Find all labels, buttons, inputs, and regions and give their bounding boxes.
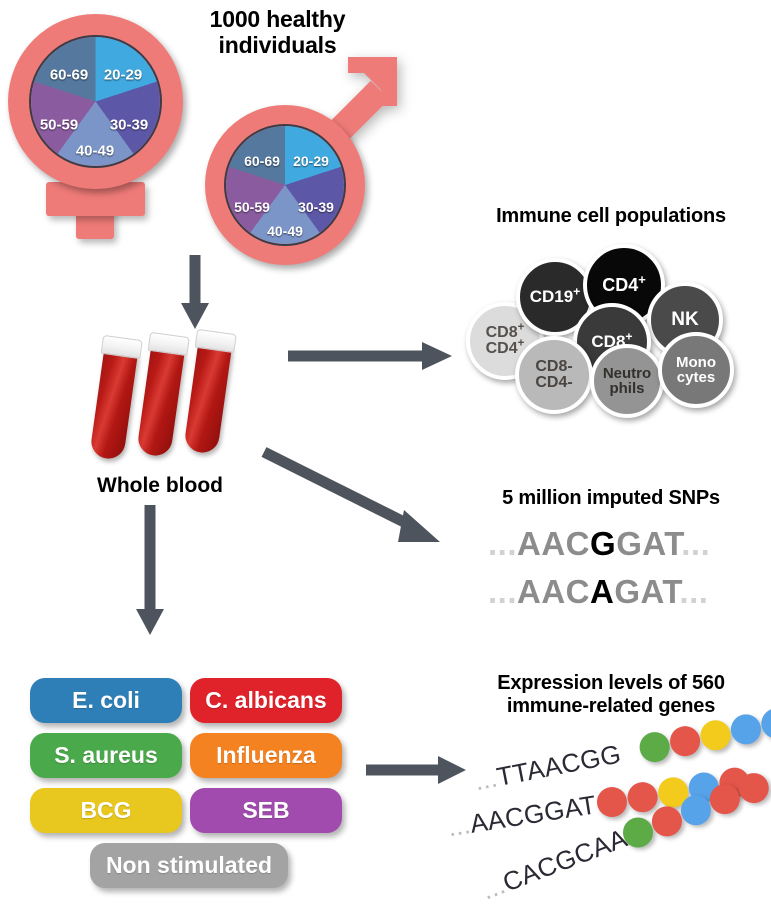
snp-title: 5 million imputed SNPs (455, 487, 767, 510)
snp-sequences: ...AACGGAT... ...AACAGAT... (470, 525, 760, 620)
expression-title: Expression levels of 560 immune-related … (455, 672, 767, 718)
expression-bead (728, 712, 763, 747)
immune-cell-neutrophils: Neutro phils (590, 344, 664, 418)
female-symbol: 20-29 30-39 40-49 50-59 60-69 (8, 14, 183, 239)
expression-bead (667, 724, 702, 759)
age-label-male-20-29: 20-29 (293, 153, 329, 169)
seq-suffix-dots: ... (679, 573, 708, 610)
cell-line-2: cytes (676, 370, 716, 385)
seq-post: GAT (616, 525, 681, 562)
whole-blood-label: Whole blood (60, 474, 260, 498)
age-label-40-49: 40-49 (76, 143, 114, 160)
stimulus-e-coli[interactable]: E. coli (30, 678, 182, 723)
immune-cell-cluster: CD8+ CD4+ CD19+ CD4+ NK CD8+ CD8- CD4- (455, 240, 767, 420)
age-label-20-29: 20-29 (104, 67, 142, 84)
seq-post: GAT (614, 573, 679, 610)
seq-pre: AAC (517, 525, 590, 562)
stimulation-panel: E. coli C. albicans S. aureus Influenza … (30, 678, 350, 898)
cell-line-2: CD4- (535, 375, 572, 391)
expression-bead (637, 729, 672, 764)
male-symbol: 20-29 30-39 40-49 50-59 60-69 (205, 85, 405, 255)
age-label-30-39: 30-39 (110, 117, 148, 134)
expression-strands: ...TTAACGG ...AACGGAT ...CACGCAA (455, 725, 771, 915)
seq-highlight-allele: G (590, 525, 616, 562)
whole-blood-tubes (100, 338, 260, 473)
stimulus-s-aureus[interactable]: S. aureus (30, 733, 182, 778)
tube-body (183, 343, 232, 455)
immune-cell-cd8n-cd4n: CD8- CD4- (515, 336, 593, 414)
cell-line-1: CD4+ (602, 276, 646, 294)
female-age-pie: 20-29 30-39 40-49 50-59 60-69 (29, 35, 162, 168)
age-label-male-30-39: 30-39 (298, 199, 334, 215)
strand-sequence: ...AACGGAT (446, 789, 599, 843)
figure-canvas: 1000 healthy individuals 20-29 30-39 40-… (0, 0, 771, 922)
snp-sequence-row: ...AACGGAT... (488, 525, 710, 563)
arrow-blood-to-snp (262, 450, 452, 555)
expression-bead (759, 706, 771, 741)
expression-bead (698, 718, 733, 753)
seq-prefix-dots: ... (488, 525, 517, 562)
cell-line-1: CD19+ (530, 288, 581, 305)
cell-line-1: CD8- (535, 359, 572, 375)
expression-bead (595, 785, 629, 819)
cell-line-2: CD4+ (486, 341, 525, 357)
arrow-blood-to-immune (288, 336, 458, 376)
seq-pre: AAC (517, 573, 590, 610)
cell-line-1: Neutro (603, 366, 651, 381)
immune-populations-title: Immune cell populations (455, 205, 767, 228)
arrow-cohort-to-blood (175, 255, 215, 335)
stimulus-c-albicans[interactable]: C. albicans (190, 678, 342, 723)
immune-cell-monocytes: Mono cytes (658, 332, 734, 408)
seq-prefix-dots: ... (488, 573, 517, 610)
seq-suffix-dots: ... (681, 525, 710, 562)
arrow-blood-to-stimuli (130, 505, 170, 640)
cell-line-2: phils (603, 381, 651, 396)
snp-sequence-row: ...AACAGAT... (488, 573, 708, 611)
age-label-50-59: 50-59 (40, 117, 78, 134)
strand-bases: TTAACGG (494, 738, 623, 791)
stimulus-influenza[interactable]: Influenza (190, 733, 342, 778)
age-label-male-50-59: 50-59 (234, 199, 270, 215)
male-age-pie: 20-29 30-39 40-49 50-59 60-69 (224, 124, 346, 246)
stimulus-bcg[interactable]: BCG (30, 788, 182, 833)
tube-body (89, 349, 138, 461)
age-label-male-60-69: 60-69 (244, 153, 280, 169)
age-label-male-40-49: 40-49 (267, 223, 303, 239)
cell-line-1: Mono (676, 355, 716, 370)
age-label-60-69: 60-69 (50, 67, 88, 84)
stimulus-non-stimulated[interactable]: Non stimulated (90, 843, 288, 888)
cell-line-1: NK (671, 310, 698, 329)
stimulus-seb[interactable]: SEB (190, 788, 342, 833)
seq-highlight-allele: A (590, 573, 614, 610)
tube-body (136, 346, 185, 458)
